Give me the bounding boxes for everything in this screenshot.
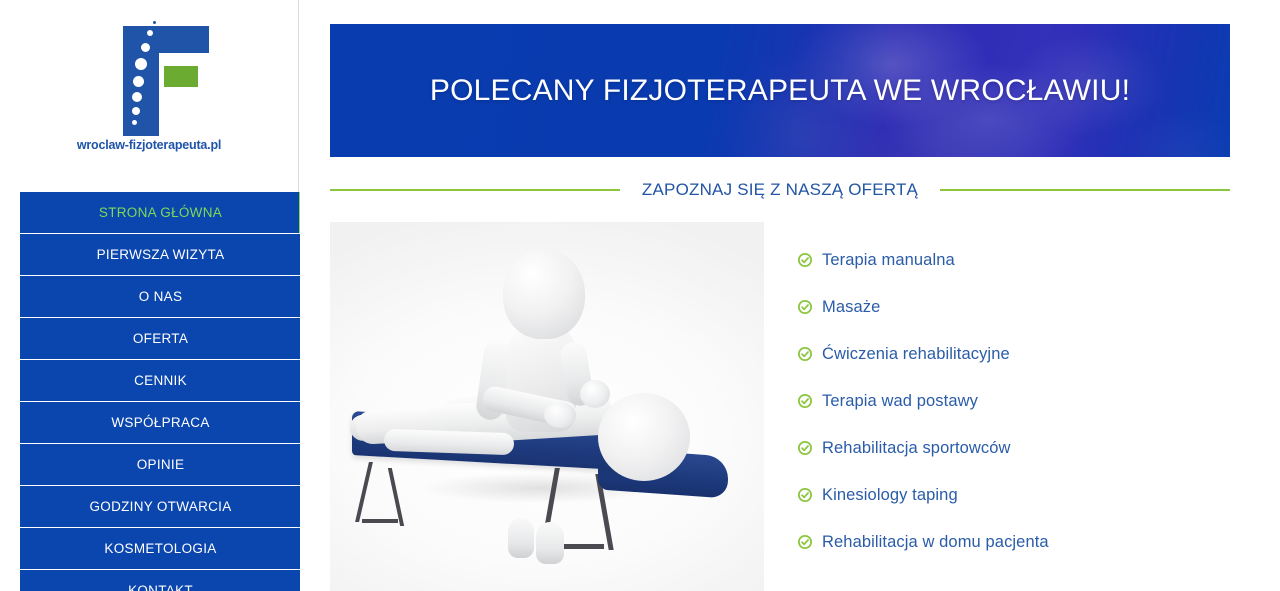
nav-item-label: CENNIK — [134, 373, 187, 388]
hero-banner: POLECANY FIZJOTERAPEUTA WE WROCŁAWIU! — [330, 24, 1230, 157]
main-navigation: STRONA GŁÓWNA PIERWSZA WIZYTA O NAS OFER… — [20, 192, 301, 591]
nav-item-godziny-otwarcia[interactable]: GODZINY OTWARCIA — [20, 486, 301, 527]
nav-item-label: KOSMETOLOGIA — [104, 541, 216, 556]
check-circle-icon — [798, 488, 812, 502]
divider-line-left — [330, 189, 620, 191]
service-item-terapia-wad-postawy[interactable]: Terapia wad postawy — [798, 389, 1218, 413]
divider-line-right — [940, 189, 1230, 191]
service-label: Terapia wad postawy — [822, 392, 978, 411]
main-content: POLECANY FIZJOTERAPEUTA WE WROCŁAWIU! ZA… — [300, 0, 1280, 591]
service-label: Kinesiology taping — [822, 486, 958, 505]
nav-item-label: STRONA GŁÓWNA — [99, 205, 222, 220]
nav-item-opinie[interactable]: OPINIE — [20, 444, 301, 485]
nav-item-o-nas[interactable]: O NAS — [20, 276, 301, 317]
sidebar: wroclaw-fizjoterapeuta.pl STRONA GŁÓWNA … — [0, 0, 299, 591]
service-label: Ćwiczenia rehabilitacyjne — [822, 345, 1010, 364]
nav-item-kontakt[interactable]: KONTAKT — [20, 570, 301, 591]
service-item-rehabilitacja-sportowcow[interactable]: Rehabilitacja sportowców — [798, 436, 1218, 460]
letter-f-spine-icon — [101, 18, 197, 136]
offer-content: Terapia manualna Masaże Ćwiczenia rehabi… — [330, 222, 1230, 591]
nav-item-label: O NAS — [139, 289, 183, 304]
nav-item-pierwsza-wizyta[interactable]: PIERWSZA WIZYTA — [20, 234, 301, 275]
service-item-rehabilitacja-w-domu-pacjenta[interactable]: Rehabilitacja w domu pacjenta — [798, 530, 1218, 554]
service-item-cwiczenia-rehabilitacyjne[interactable]: Ćwiczenia rehabilitacyjne — [798, 342, 1218, 366]
nav-item-label: OPINIE — [137, 457, 185, 472]
nav-item-wspolpraca[interactable]: WSPÓŁPRACA — [20, 402, 301, 443]
nav-item-kosmetologia[interactable]: KOSMETOLOGIA — [20, 528, 301, 569]
service-item-terapia-manualna[interactable]: Terapia manualna — [798, 248, 1218, 272]
logo-wordmark: wroclaw-fizjoterapeuta.pl — [77, 138, 221, 152]
nav-item-cennik[interactable]: CENNIK — [20, 360, 301, 401]
service-label: Terapia manualna — [822, 251, 955, 270]
hero-title: POLECANY FIZJOTERAPEUTA WE WROCŁAWIU! — [330, 74, 1230, 108]
site-logo[interactable]: wroclaw-fizjoterapeuta.pl — [0, 18, 298, 168]
section-title: ZAPOZNAJ SIĘ Z NASZĄ OFERTĄ — [642, 180, 918, 200]
services-list: Terapia manualna Masaże Ćwiczenia rehabi… — [798, 248, 1218, 577]
check-circle-icon — [798, 347, 812, 361]
check-circle-icon — [798, 300, 812, 314]
nav-item-strona-glowna[interactable]: STRONA GŁÓWNA — [20, 192, 301, 233]
service-label: Masaże — [822, 298, 880, 317]
section-heading: ZAPOZNAJ SIĘ Z NASZĄ OFERTĄ — [330, 176, 1230, 204]
nav-item-label: KONTAKT — [128, 583, 193, 591]
check-circle-icon — [798, 394, 812, 408]
nav-item-oferta[interactable]: OFERTA — [20, 318, 301, 359]
page-root: wroclaw-fizjoterapeuta.pl STRONA GŁÓWNA … — [0, 0, 1280, 591]
service-item-masaze[interactable]: Masaże — [798, 295, 1218, 319]
service-label: Rehabilitacja w domu pacjenta — [822, 533, 1049, 552]
check-circle-icon — [798, 535, 812, 549]
check-circle-icon — [798, 441, 812, 455]
massage-illustration — [330, 222, 764, 591]
nav-item-label: PIERWSZA WIZYTA — [97, 247, 225, 262]
check-circle-icon — [798, 253, 812, 267]
nav-item-label: OFERTA — [133, 331, 188, 346]
nav-item-label: GODZINY OTWARCIA — [89, 499, 231, 514]
service-label: Rehabilitacja sportowców — [822, 439, 1011, 458]
nav-item-label: WSPÓŁPRACA — [111, 415, 209, 430]
service-item-kinesiology-taping[interactable]: Kinesiology taping — [798, 483, 1218, 507]
